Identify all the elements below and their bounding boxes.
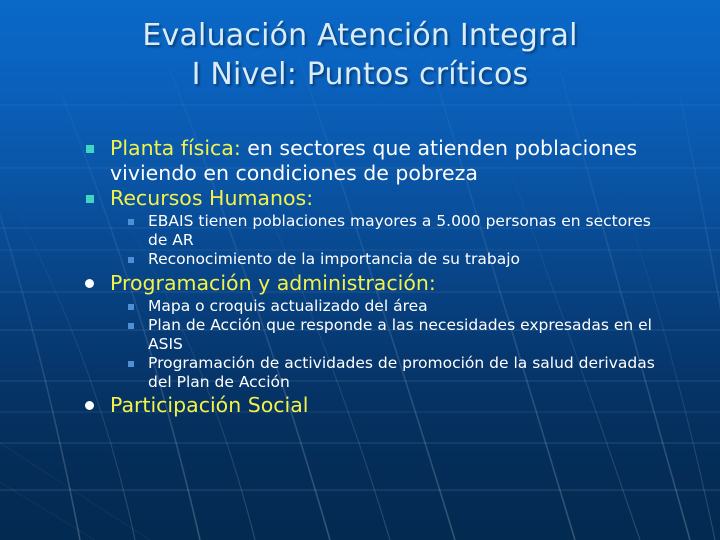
- presentation-slide: Evaluación Atención Integral I Nivel: Pu…: [0, 0, 720, 540]
- bullet-text: Plan de Acción que responde a las necesi…: [148, 316, 652, 353]
- bullet-level1-programacion-administracion: Programación y administración:: [74, 271, 674, 296]
- square-bullet-icon: [128, 257, 134, 263]
- slide-title-line-1: Evaluación Atención Integral: [0, 16, 720, 55]
- bullet-level1-participacion-social: Participación Social: [74, 393, 674, 418]
- bullet-lead-text: Participación Social: [110, 393, 309, 417]
- square-bullet-icon: [128, 304, 134, 310]
- square-bullet-icon: [128, 361, 134, 367]
- bullet-lead-text: Programación y administración:: [110, 271, 436, 295]
- slide-body: Planta física: en sectores que atienden …: [74, 136, 674, 418]
- sublist-programacion: Mapa o croquis actualizado del área Plan…: [74, 297, 674, 392]
- sublist-recursos-humanos: EBAIS tienen poblaciones mayores a 5.000…: [74, 212, 674, 269]
- bullet-lead-text: Recursos Humanos:: [110, 186, 313, 210]
- slide-title-line-2: I Nivel: Puntos críticos: [0, 55, 720, 94]
- round-bullet-icon: [85, 279, 94, 288]
- bullet-text: Programación de actividades de promoción…: [148, 354, 655, 391]
- round-bullet-icon: [85, 401, 94, 410]
- square-bullet-icon: [86, 145, 94, 153]
- bullet-text: Reconocimiento de la importancia de su t…: [148, 250, 520, 268]
- bullet-level2-ebais: EBAIS tienen poblaciones mayores a 5.000…: [74, 212, 674, 249]
- square-bullet-icon: [86, 195, 94, 203]
- bullet-text: EBAIS tienen poblaciones mayores a 5.000…: [148, 212, 651, 249]
- bullet-level2-reconocimiento: Reconocimiento de la importancia de su t…: [74, 250, 674, 269]
- slide-title: Evaluación Atención Integral I Nivel: Pu…: [0, 16, 720, 94]
- bullet-level2-plan-accion: Plan de Acción que responde a las necesi…: [74, 316, 674, 353]
- bullet-level2-programacion-actividades: Programación de actividades de promoción…: [74, 354, 674, 391]
- bullet-level1-recursos-humanos: Recursos Humanos:: [74, 186, 674, 211]
- square-bullet-icon: [128, 323, 134, 329]
- bullet-level1-planta-fisica: Planta física: en sectores que atienden …: [74, 136, 674, 186]
- bullet-lead-text: Planta física:: [110, 136, 241, 160]
- square-bullet-icon: [128, 219, 134, 225]
- bullet-text: Mapa o croquis actualizado del área: [148, 297, 428, 315]
- bullet-level2-mapa-croquis: Mapa o croquis actualizado del área: [74, 297, 674, 316]
